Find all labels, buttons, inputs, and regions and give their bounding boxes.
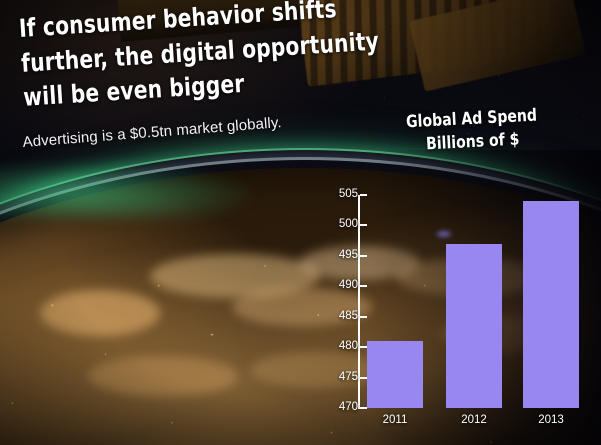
y-axis-tick-label: 495 <box>324 250 358 262</box>
y-axis-tick <box>360 407 367 409</box>
y-axis-tick <box>360 285 367 287</box>
y-axis-tick-label: 500 <box>324 219 358 231</box>
infographic-slide: If consumer behavior shifts further, the… <box>0 0 601 445</box>
bar-chart: 470475480485490495500505 201120122013 <box>326 186 601 436</box>
y-axis-tick <box>360 194 367 196</box>
y-axis-tick-label: 490 <box>324 280 358 292</box>
x-axis-label-2013: 2013 <box>523 414 579 426</box>
y-axis-tick <box>360 316 367 318</box>
chart-title: Global Ad Spend Billions of $ <box>402 104 542 157</box>
y-axis-tick-label: 505 <box>324 189 358 201</box>
x-axis-label-2011: 2011 <box>367 414 423 426</box>
bar-2013 <box>523 201 579 408</box>
y-axis-tick-label: 470 <box>324 402 358 414</box>
y-axis-tick <box>360 377 367 379</box>
headline: If consumer behavior shifts further, the… <box>18 0 339 115</box>
y-axis-tick <box>360 255 367 257</box>
y-axis-tick <box>360 224 367 226</box>
bar-2012 <box>446 244 502 408</box>
x-axis-label-2012: 2012 <box>446 414 502 426</box>
bar-2011 <box>367 341 423 408</box>
y-axis-tick-label: 485 <box>324 311 358 323</box>
y-axis-tick <box>360 346 367 348</box>
y-axis-tick-label: 475 <box>324 372 358 384</box>
y-axis-tick-label: 480 <box>324 341 358 353</box>
